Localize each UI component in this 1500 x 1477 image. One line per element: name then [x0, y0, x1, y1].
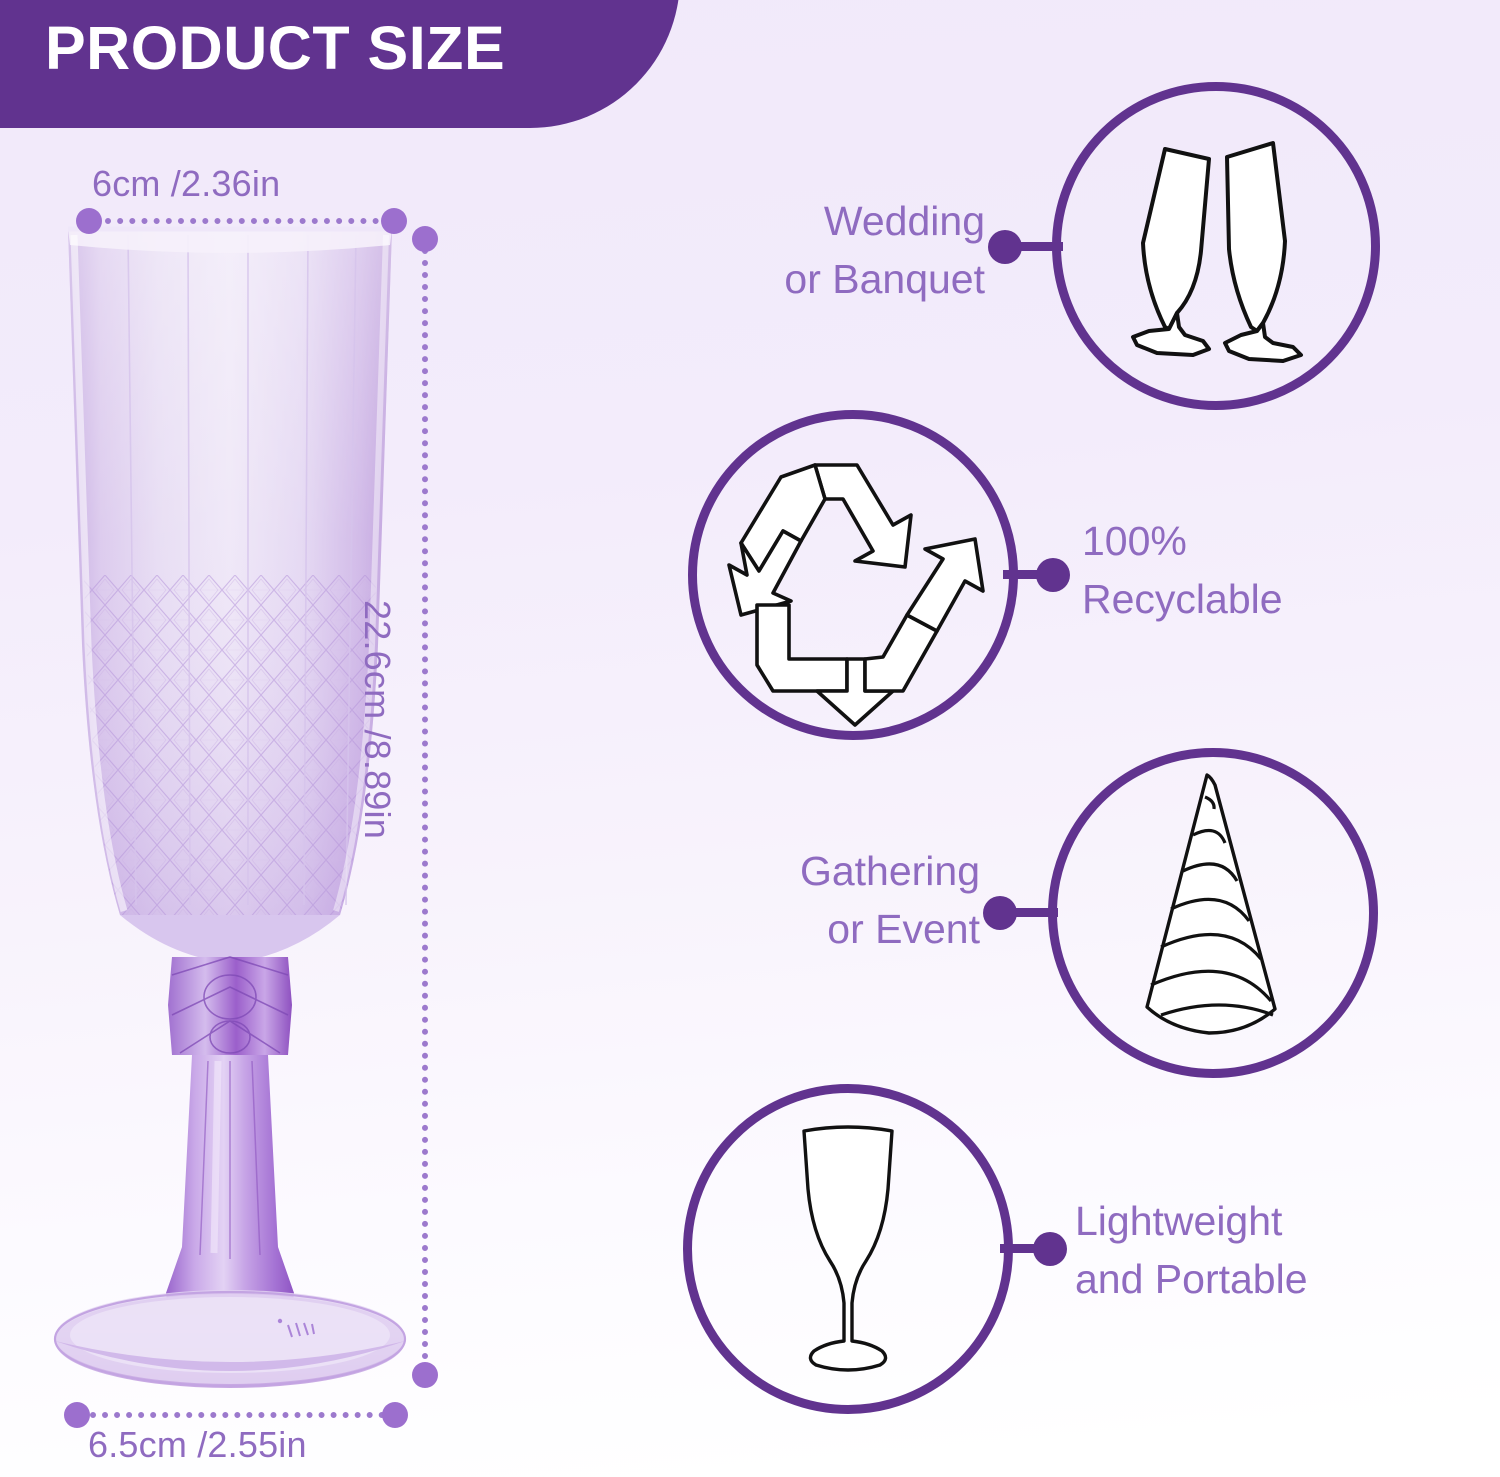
- feature-wedding-connector-dot: [988, 230, 1022, 264]
- party-hat-icon-frame: [1048, 748, 1378, 1078]
- feature-recyclable-line1: 100%: [1082, 512, 1422, 570]
- dimension-height-label: 22.6cm /8.89in: [356, 600, 398, 839]
- dimension-base-line: [90, 1412, 397, 1418]
- cut-crystal-texture: [84, 575, 376, 915]
- feature-recyclable-line2: Recyclable: [1082, 570, 1422, 628]
- dimension-base-width-label: 6.5cm /2.55in: [88, 1424, 307, 1466]
- dimension-top-width-label: 6cm /2.36in: [92, 163, 280, 205]
- dimension-dot-top-left: [76, 208, 102, 234]
- feature-gathering-line1: Gathering: [650, 842, 980, 900]
- feature-recyclable-label: 100% Recyclable: [1082, 512, 1422, 628]
- party-hat-icon: [1057, 757, 1369, 1069]
- feature-lightweight-connector-dot: [1033, 1232, 1067, 1266]
- dimension-dot-height-top: [412, 226, 438, 252]
- feature-gathering-connector-dot: [983, 896, 1017, 930]
- toasting-glasses-icon: [1061, 91, 1371, 401]
- feature-gathering-line2: or Event: [650, 900, 980, 958]
- feature-lightweight-line2: and Portable: [1075, 1250, 1425, 1308]
- toasting-glasses-icon-frame: [1052, 82, 1380, 410]
- feature-wedding-line1: Wedding: [655, 192, 985, 250]
- dimension-dot-top-right: [381, 208, 407, 234]
- feature-lightweight-label: Lightweight and Portable: [1075, 1192, 1425, 1308]
- page-title: PRODUCT SIZE: [45, 18, 505, 79]
- feature-wedding-label: Wedding or Banquet: [655, 192, 985, 308]
- header-banner: PRODUCT SIZE: [0, 0, 680, 128]
- feature-wedding-line2: or Banquet: [655, 250, 985, 308]
- dimension-dot-height-bottom: [412, 1362, 438, 1388]
- dimension-dot-base-left: [64, 1402, 90, 1428]
- product-size-infographic: PRODUCT SIZE: [0, 0, 1500, 1477]
- champagne-flute-icon-frame: [683, 1084, 1013, 1414]
- feature-gathering-label: Gathering or Event: [650, 842, 980, 958]
- bowl-base: [120, 915, 340, 963]
- recycle-icon-frame: [688, 410, 1018, 740]
- feature-lightweight-line1: Lightweight: [1075, 1192, 1425, 1250]
- champagne-flute-icon: [692, 1093, 1004, 1405]
- dimension-top-line: [105, 218, 391, 224]
- feature-recyclable-connector-dot: [1036, 558, 1070, 592]
- recycle-icon: [697, 419, 1009, 731]
- dimension-height-line: [422, 236, 428, 1372]
- stem-knop: [168, 957, 292, 1055]
- dimension-dot-base-right: [382, 1402, 408, 1428]
